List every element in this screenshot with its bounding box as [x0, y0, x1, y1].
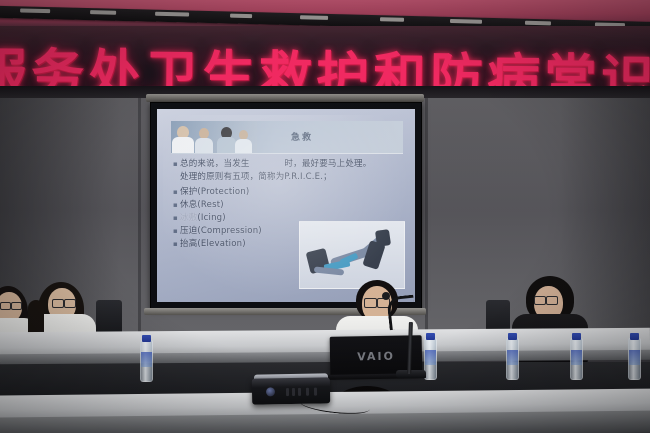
presentation-slide: 急救 ▪ 总的来说，当发生 时，最好要马上处理。 处理的原则有五项，简称为P.R…: [157, 109, 415, 302]
bullet-icon: ▪: [173, 226, 180, 237]
projector-lens-icon: [266, 387, 275, 396]
wall-seam-left: [138, 98, 141, 348]
microphone-head-icon: [382, 292, 390, 300]
bullet-5-cn: 抬高: [180, 239, 197, 249]
bullet-icon: ▪: [173, 213, 180, 224]
water-bottle: [570, 338, 583, 380]
led-banner: 服务处卫生救护和防病常识培训: [0, 26, 650, 92]
wall-shadow-right: [560, 98, 650, 348]
bullet-icon: ▪: [173, 187, 180, 198]
bullet-2-en: (Rest): [197, 200, 223, 210]
para-1-blur: [250, 159, 285, 169]
slide-bullet-2: ▪ 休息(Rest): [173, 200, 409, 211]
bullet-1-en: (Protection): [197, 187, 249, 197]
water-bottle: [506, 338, 519, 380]
laptop-brand-label: VAIO: [357, 350, 395, 364]
microphone-gooseneck: [386, 295, 416, 331]
para-1-a: 总的来说，当发生: [180, 159, 250, 169]
bullet-4-en: (Compression): [197, 226, 261, 236]
bullet-4-cn: 压迫: [180, 226, 197, 236]
slide-paragraph-2: 处理的原则有五项，简称为P.R.I.C.E.；: [180, 172, 409, 183]
para-1-b: 时，最好要马上处理。: [284, 159, 371, 169]
slide-bullet-1: ▪ 保护(Protection): [173, 187, 409, 198]
screen-frame: 急救 ▪ 总的来说，当发生 时，最好要马上处理。 处理的原则有五项，简称为P.R…: [150, 102, 422, 309]
screen-roller: [146, 94, 424, 102]
slide-header-photo: [171, 121, 257, 153]
screen-surface: 急救 ▪ 总的来说，当发生 时，最好要马上处理。 处理的原则有五项，简称为P.R…: [157, 109, 415, 302]
bullet-2-cn: 休息: [180, 200, 197, 210]
bullet-icon: ▪: [173, 200, 180, 211]
slide-illustration: [299, 221, 405, 289]
bullet-icon: ▪: [173, 159, 180, 170]
bullet-icon: ▪: [173, 239, 180, 250]
slide-paragraph-1: ▪ 总的来说，当发生 时，最好要马上处理。: [173, 159, 409, 170]
photo-scene: 服务处卫生救护和防病常识培训: [0, 0, 650, 433]
bullet-5-en: (Elevation): [197, 239, 245, 249]
bullet-3-en: (Icing): [197, 213, 225, 223]
bullet-1-cn: 保护: [180, 187, 197, 197]
bullet-3-cn: 冰敷: [180, 213, 197, 223]
water-bottle: [628, 338, 641, 380]
water-bottle: [140, 340, 153, 382]
slide-header: 急救: [171, 121, 403, 154]
slide-title: 急救: [291, 130, 313, 143]
